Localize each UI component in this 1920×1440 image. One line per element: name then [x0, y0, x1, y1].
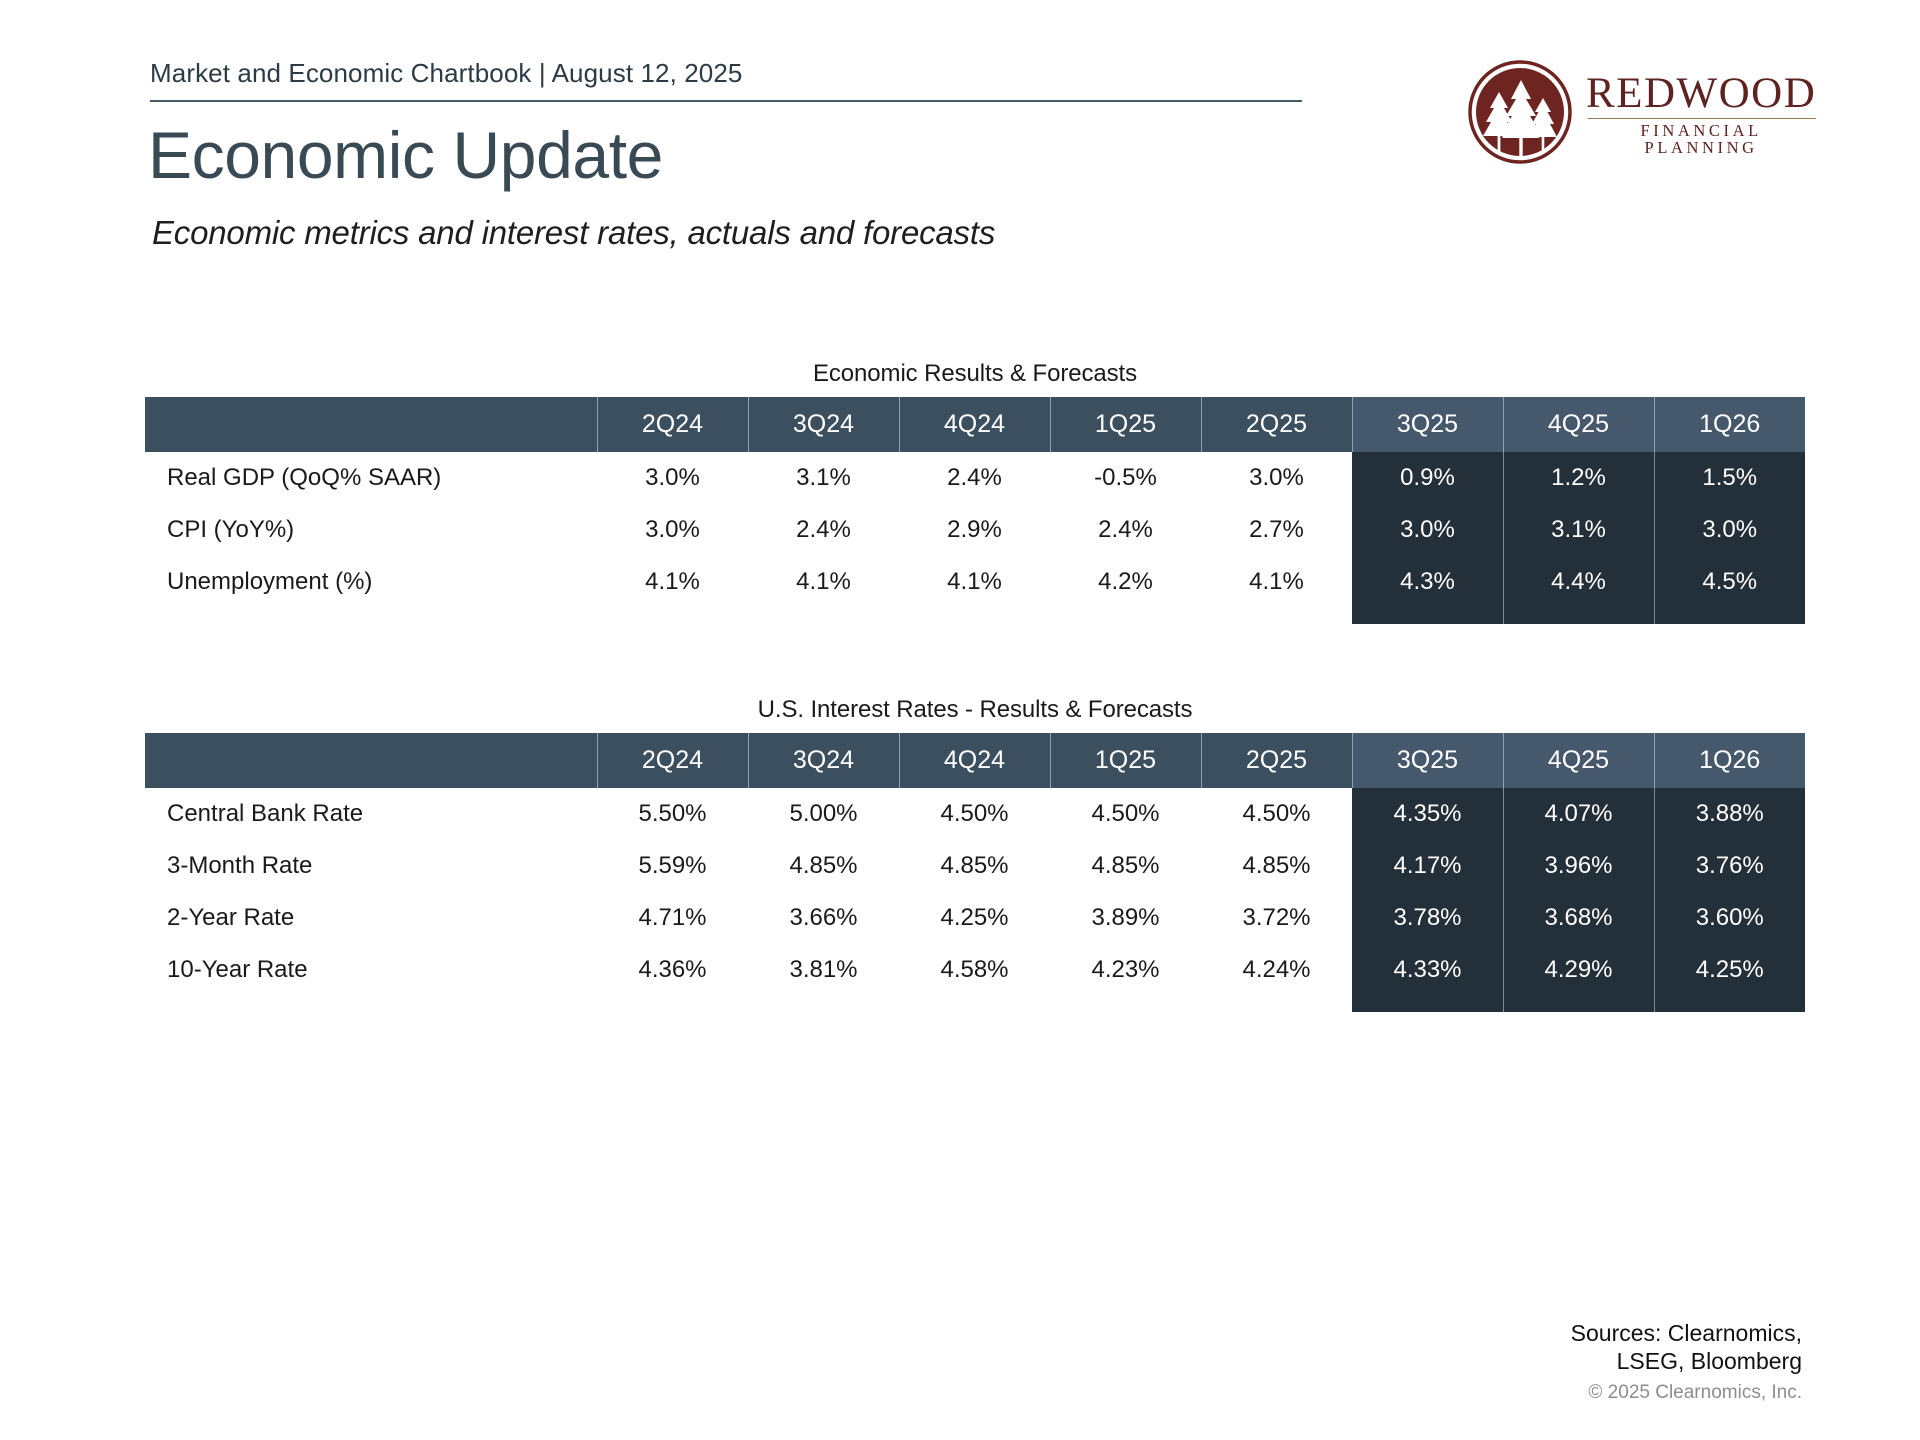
brand-logo: REDWOOD FINANCIAL PLANNING	[1468, 56, 1798, 168]
cell-unemployment-3q25: 4.3%	[1352, 556, 1503, 608]
cell-3-month-rate-1q26: 3.76%	[1654, 840, 1805, 892]
cell-cpi-3q25: 3.0%	[1352, 504, 1503, 556]
cell-real-gdp-1q26: 1.5%	[1654, 452, 1805, 504]
slide-header: Market and Economic Chartbook | August 1…	[150, 58, 1302, 102]
column-header-3q24: 3Q24	[748, 733, 899, 788]
column-header-4q25: 4Q25	[1503, 733, 1654, 788]
page-subtitle: Economic metrics and interest rates, act…	[152, 214, 995, 252]
economic-table-block: Economic Results & Forecasts 2Q24 3Q24 4…	[145, 360, 1805, 624]
column-header-4q25: 4Q25	[1503, 397, 1654, 452]
column-header-3q25: 3Q25	[1352, 733, 1503, 788]
cell-real-gdp-4q24: 2.4%	[899, 452, 1050, 504]
cell-cpi-3q24: 2.4%	[748, 504, 899, 556]
table-row: CPI (YoY%) 3.0% 2.4% 2.9% 2.4% 2.7% 3.0%…	[145, 504, 1805, 556]
cell-real-gdp-1q25: -0.5%	[1050, 452, 1201, 504]
economic-table-caption: Economic Results & Forecasts	[145, 360, 1805, 388]
cell-unemployment-1q25: 4.2%	[1050, 556, 1201, 608]
logo-wordmark: REDWOOD FINANCIAL PLANNING	[1586, 68, 1816, 156]
cell-3-month-rate-4q25: 3.96%	[1503, 840, 1654, 892]
pad-cell-forecast	[1503, 608, 1654, 624]
column-header-rate	[145, 733, 597, 788]
cell-10-year-rate-4q25: 4.29%	[1503, 944, 1654, 996]
rates-table-block: U.S. Interest Rates - Results & Forecast…	[145, 696, 1805, 1012]
cell-2-year-rate-4q25: 3.68%	[1503, 892, 1654, 944]
cell-2-year-rate-3q24: 3.66%	[748, 892, 899, 944]
slide-footer: Sources: Clearnomics, LSEG, Bloomberg © …	[1571, 1319, 1802, 1405]
pad-cell-forecast	[1352, 996, 1503, 1012]
copyright-notice: © 2025 Clearnomics, Inc.	[1571, 1382, 1802, 1404]
cell-10-year-rate-1q26: 4.25%	[1654, 944, 1805, 996]
cell-10-year-rate-3q24: 3.81%	[748, 944, 899, 996]
cell-3-month-rate-1q25: 4.85%	[1050, 840, 1201, 892]
row-label-3-month-rate: 3-Month Rate	[145, 840, 597, 892]
pad-cell	[145, 996, 597, 1012]
pad-cell	[748, 996, 899, 1012]
column-header-4q24: 4Q24	[899, 397, 1050, 452]
column-header-1q25: 1Q25	[1050, 397, 1201, 452]
pine-trees-circle-icon	[1468, 60, 1572, 164]
column-header-2q25: 2Q25	[1201, 733, 1352, 788]
pad-cell	[1050, 996, 1201, 1012]
pad-cell	[145, 608, 597, 624]
pad-cell-forecast	[1654, 608, 1805, 624]
cell-unemployment-4q24: 4.1%	[899, 556, 1050, 608]
sources-line-2: LSEG, Bloomberg	[1571, 1347, 1802, 1376]
pad-cell	[1201, 996, 1352, 1012]
pad-cell-forecast	[1654, 996, 1805, 1012]
cell-central-bank-rate-3q24: 5.00%	[748, 788, 899, 840]
row-label-cpi: CPI (YoY%)	[145, 504, 597, 556]
cell-real-gdp-3q24: 3.1%	[748, 452, 899, 504]
cell-unemployment-1q26: 4.5%	[1654, 556, 1805, 608]
column-header-1q25: 1Q25	[1050, 733, 1201, 788]
page-title: Economic Update	[148, 122, 663, 189]
cell-real-gdp-4q25: 1.2%	[1503, 452, 1654, 504]
cell-10-year-rate-3q25: 4.33%	[1352, 944, 1503, 996]
cell-10-year-rate-4q24: 4.58%	[899, 944, 1050, 996]
row-label-central-bank-rate: Central Bank Rate	[145, 788, 597, 840]
row-label-real-gdp: Real GDP (QoQ% SAAR)	[145, 452, 597, 504]
chartbook-kicker: Market and Economic Chartbook | August 1…	[150, 58, 1302, 89]
cell-cpi-1q26: 3.0%	[1654, 504, 1805, 556]
row-label-unemployment: Unemployment (%)	[145, 556, 597, 608]
cell-unemployment-3q24: 4.1%	[748, 556, 899, 608]
cell-3-month-rate-3q24: 4.85%	[748, 840, 899, 892]
table-header-row: 2Q24 3Q24 4Q24 1Q25 2Q25 3Q25 4Q25 1Q26	[145, 397, 1805, 452]
column-header-2q24: 2Q24	[597, 733, 748, 788]
economic-results-table: 2Q24 3Q24 4Q24 1Q25 2Q25 3Q25 4Q25 1Q26 …	[145, 397, 1805, 624]
pad-cell-forecast	[1503, 996, 1654, 1012]
cell-10-year-rate-1q25: 4.23%	[1050, 944, 1201, 996]
cell-3-month-rate-3q25: 4.17%	[1352, 840, 1503, 892]
table-header-row: 2Q24 3Q24 4Q24 1Q25 2Q25 3Q25 4Q25 1Q26	[145, 733, 1805, 788]
pad-cell	[899, 996, 1050, 1012]
cell-central-bank-rate-3q25: 4.35%	[1352, 788, 1503, 840]
table-row: Unemployment (%) 4.1% 4.1% 4.1% 4.2% 4.1…	[145, 556, 1805, 608]
pad-cell	[899, 608, 1050, 624]
cell-2-year-rate-3q25: 3.78%	[1352, 892, 1503, 944]
column-header-1q26: 1Q26	[1654, 397, 1805, 452]
cell-3-month-rate-4q24: 4.85%	[899, 840, 1050, 892]
pad-cell	[1201, 608, 1352, 624]
pad-cell	[597, 996, 748, 1012]
cell-central-bank-rate-2q24: 5.50%	[597, 788, 748, 840]
column-header-1q26: 1Q26	[1654, 733, 1805, 788]
interest-rates-table: 2Q24 3Q24 4Q24 1Q25 2Q25 3Q25 4Q25 1Q26 …	[145, 733, 1805, 1012]
cell-real-gdp-2q24: 3.0%	[597, 452, 748, 504]
cell-unemployment-2q25: 4.1%	[1201, 556, 1352, 608]
cell-2-year-rate-4q24: 4.25%	[899, 892, 1050, 944]
cell-3-month-rate-2q24: 5.59%	[597, 840, 748, 892]
cell-2-year-rate-2q25: 3.72%	[1201, 892, 1352, 944]
column-header-2q25: 2Q25	[1201, 397, 1352, 452]
cell-central-bank-rate-1q26: 3.88%	[1654, 788, 1805, 840]
cell-3-month-rate-2q25: 4.85%	[1201, 840, 1352, 892]
table-row: 2-Year Rate 4.71% 3.66% 4.25% 3.89% 3.72…	[145, 892, 1805, 944]
column-header-2q24: 2Q24	[597, 397, 748, 452]
table-row: 10-Year Rate 4.36% 3.81% 4.58% 4.23% 4.2…	[145, 944, 1805, 996]
table-row: Real GDP (QoQ% SAAR) 3.0% 3.1% 2.4% -0.5…	[145, 452, 1805, 504]
logo-name: REDWOOD	[1586, 72, 1816, 115]
column-header-3q25: 3Q25	[1352, 397, 1503, 452]
forecast-block-bottom-pad	[145, 996, 1805, 1012]
cell-unemployment-2q24: 4.1%	[597, 556, 748, 608]
sources-line-1: Sources: Clearnomics,	[1571, 1319, 1802, 1348]
pad-cell	[1050, 608, 1201, 624]
cell-real-gdp-3q25: 0.9%	[1352, 452, 1503, 504]
cell-2-year-rate-2q24: 4.71%	[597, 892, 748, 944]
column-header-3q24: 3Q24	[748, 397, 899, 452]
cell-cpi-1q25: 2.4%	[1050, 504, 1201, 556]
forecast-block-bottom-pad	[145, 608, 1805, 624]
cell-2-year-rate-1q26: 3.60%	[1654, 892, 1805, 944]
cell-cpi-2q24: 3.0%	[597, 504, 748, 556]
cell-10-year-rate-2q24: 4.36%	[597, 944, 748, 996]
cell-10-year-rate-2q25: 4.24%	[1201, 944, 1352, 996]
cell-central-bank-rate-4q25: 4.07%	[1503, 788, 1654, 840]
column-header-4q24: 4Q24	[899, 733, 1050, 788]
table-row: Central Bank Rate 5.50% 5.00% 4.50% 4.50…	[145, 788, 1805, 840]
cell-2-year-rate-1q25: 3.89%	[1050, 892, 1201, 944]
row-label-2-year-rate: 2-Year Rate	[145, 892, 597, 944]
pad-cell	[748, 608, 899, 624]
cell-unemployment-4q25: 4.4%	[1503, 556, 1654, 608]
row-label-10-year-rate: 10-Year Rate	[145, 944, 597, 996]
cell-central-bank-rate-2q25: 4.50%	[1201, 788, 1352, 840]
cell-cpi-2q25: 2.7%	[1201, 504, 1352, 556]
cell-central-bank-rate-1q25: 4.50%	[1050, 788, 1201, 840]
pad-cell-forecast	[1352, 608, 1503, 624]
table-row: 3-Month Rate 5.59% 4.85% 4.85% 4.85% 4.8…	[145, 840, 1805, 892]
cell-cpi-4q24: 2.9%	[899, 504, 1050, 556]
cell-cpi-4q25: 3.1%	[1503, 504, 1654, 556]
column-header-metric	[145, 397, 597, 452]
logo-tagline: FINANCIAL PLANNING	[1586, 123, 1816, 156]
logo-divider	[1588, 118, 1816, 119]
pad-cell	[597, 608, 748, 624]
cell-central-bank-rate-4q24: 4.50%	[899, 788, 1050, 840]
rates-table-caption: U.S. Interest Rates - Results & Forecast…	[145, 696, 1805, 724]
cell-real-gdp-2q25: 3.0%	[1201, 452, 1352, 504]
header-divider	[150, 100, 1302, 102]
